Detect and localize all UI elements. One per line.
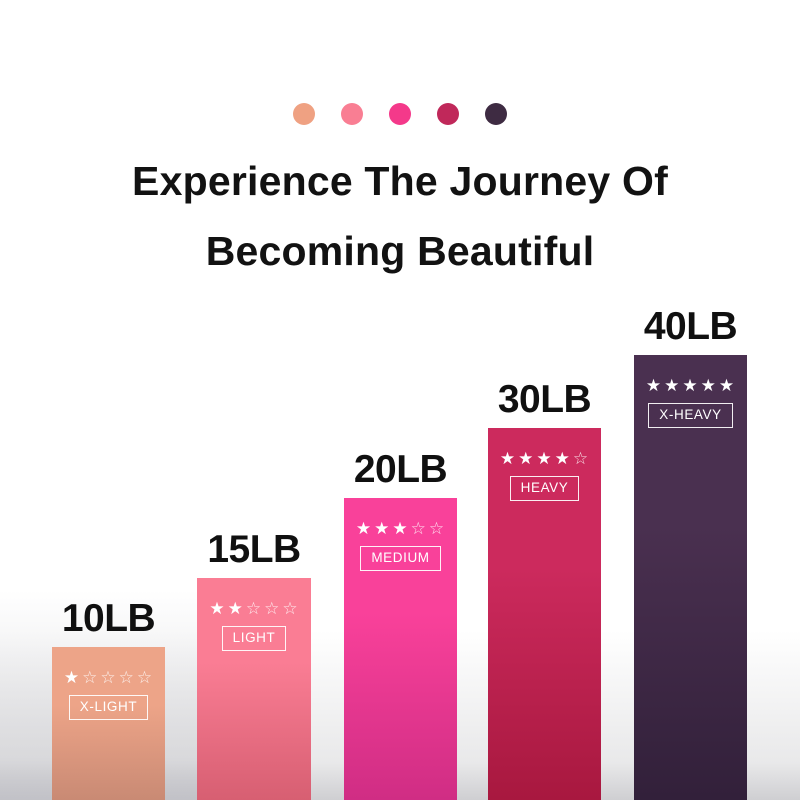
star-filled-icon: ★	[536, 450, 552, 467]
resistance-level-label-30lb: HEAVY	[510, 476, 580, 501]
star-filled-icon: ★	[719, 377, 735, 394]
page-title: Experience The Journey Of Becoming Beaut…	[0, 146, 800, 286]
bar-badge-15lb: ★★☆☆☆LIGHT	[197, 600, 311, 651]
star-filled-icon: ★	[701, 377, 717, 394]
bar-badge-30lb: ★★★★☆HEAVY	[488, 450, 601, 501]
star-filled-icon: ★	[664, 377, 680, 394]
page-title-line-1: Experience The Journey Of	[0, 146, 800, 216]
star-filled-icon: ★	[209, 600, 225, 617]
star-empty-icon: ☆	[82, 669, 98, 686]
bar-15lb[interactable]: ★★☆☆☆LIGHT	[197, 578, 311, 800]
bar-group-10lb[interactable]: 10LB★☆☆☆☆X-LIGHT	[52, 647, 165, 800]
bar-value-label-10lb: 10LB	[62, 597, 155, 641]
dot-medium	[389, 103, 411, 125]
bar-40lb[interactable]: ★★★★★X-HEAVY	[634, 355, 747, 800]
bar-badge-20lb: ★★★☆☆MEDIUM	[344, 520, 457, 571]
star-rating-30lb: ★★★★☆	[500, 450, 589, 467]
star-empty-icon: ☆	[100, 669, 116, 686]
star-empty-icon: ☆	[246, 600, 262, 617]
star-filled-icon: ★	[64, 669, 80, 686]
star-filled-icon: ★	[228, 600, 244, 617]
star-filled-icon: ★	[392, 520, 408, 537]
star-filled-icon: ★	[374, 520, 390, 537]
star-filled-icon: ★	[518, 450, 534, 467]
bar-value-label-15lb: 15LB	[207, 528, 300, 572]
star-filled-icon: ★	[682, 377, 698, 394]
bar-value-label-40lb: 40LB	[644, 305, 737, 349]
star-rating-10lb: ★☆☆☆☆	[64, 669, 153, 686]
star-empty-icon: ☆	[429, 520, 445, 537]
bar-group-15lb[interactable]: 15LB★★☆☆☆LIGHT	[197, 578, 311, 800]
dot-light	[341, 103, 363, 125]
page-title-line-2: Becoming Beautiful	[0, 216, 800, 286]
star-empty-icon: ☆	[411, 520, 427, 537]
star-rating-40lb: ★★★★★	[646, 377, 735, 394]
resistance-level-label-20lb: MEDIUM	[360, 546, 440, 571]
bar-badge-40lb: ★★★★★X-HEAVY	[634, 377, 747, 428]
star-rating-20lb: ★★★☆☆	[356, 520, 445, 537]
bar-group-40lb[interactable]: 40LB★★★★★X-HEAVY	[634, 355, 747, 800]
dot-x-light	[293, 103, 315, 125]
resistance-level-label-15lb: LIGHT	[222, 626, 287, 651]
resistance-level-label-10lb: X-LIGHT	[69, 695, 148, 720]
star-filled-icon: ★	[646, 377, 662, 394]
color-swatch-dots	[0, 103, 800, 125]
dot-heavy	[437, 103, 459, 125]
star-empty-icon: ☆	[264, 600, 280, 617]
bar-value-label-30lb: 30LB	[498, 378, 591, 422]
bar-value-label-20lb: 20LB	[354, 448, 447, 492]
bar-30lb[interactable]: ★★★★☆HEAVY	[488, 428, 601, 800]
bar-badge-10lb: ★☆☆☆☆X-LIGHT	[52, 669, 165, 720]
bar-group-30lb[interactable]: 30LB★★★★☆HEAVY	[488, 428, 601, 800]
star-empty-icon: ☆	[119, 669, 135, 686]
bar-group-20lb[interactable]: 20LB★★★☆☆MEDIUM	[344, 498, 457, 800]
star-empty-icon: ☆	[573, 450, 589, 467]
bar-20lb[interactable]: ★★★☆☆MEDIUM	[344, 498, 457, 800]
star-rating-15lb: ★★☆☆☆	[209, 600, 298, 617]
star-filled-icon: ★	[500, 450, 516, 467]
star-filled-icon: ★	[356, 520, 372, 537]
resistance-level-label-40lb: X-HEAVY	[648, 403, 732, 428]
bar-10lb[interactable]: ★☆☆☆☆X-LIGHT	[52, 647, 165, 800]
dot-x-heavy	[485, 103, 507, 125]
star-empty-icon: ☆	[282, 600, 298, 617]
star-empty-icon: ☆	[137, 669, 153, 686]
star-filled-icon: ★	[555, 450, 571, 467]
